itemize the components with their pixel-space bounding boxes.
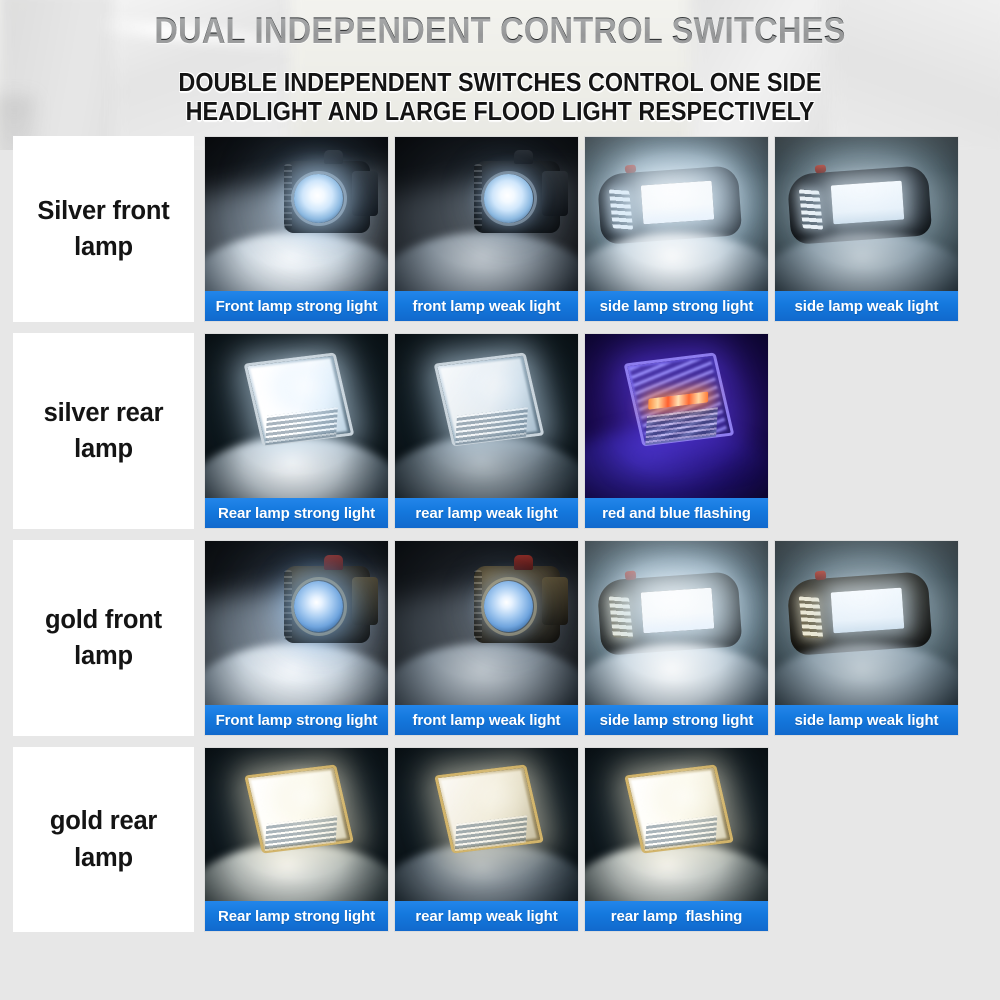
lamp-photo xyxy=(775,137,958,291)
row-label-text: Silver front lamp xyxy=(23,193,184,265)
photo-caption: Front lamp strong light xyxy=(205,291,388,321)
photo-caption: side lamp strong light xyxy=(585,291,768,321)
lamp-photo xyxy=(585,748,768,901)
photo-caption: rear lamp weak light xyxy=(395,901,578,931)
photo-caption: rear lamp flashing xyxy=(585,901,768,931)
lamp-photo-cell[interactable]: rear lamp flashing xyxy=(584,747,769,932)
photo-caption: front lamp weak light xyxy=(395,291,578,321)
lamp-photo xyxy=(585,334,768,498)
photo-caption: side lamp strong light xyxy=(585,705,768,735)
row-label-text: gold rear lamp xyxy=(23,803,184,875)
table-row: silver rear lamp Re xyxy=(13,333,979,529)
page-subtitle-line-2: HEADLIGHT AND LARGE FLOOD LIGHT RESPECTI… xyxy=(50,97,950,126)
lamp-photo-cell[interactable]: Rear lamp strong light xyxy=(204,747,389,932)
lamp-photo xyxy=(775,541,958,705)
row-cells: Rear lamp strong light r xyxy=(194,747,979,932)
lamp-photo-cell[interactable]: red and blue flashing xyxy=(584,333,769,529)
row-label-text: gold front lamp xyxy=(23,602,184,674)
photo-caption: front lamp weak light xyxy=(395,705,578,735)
row-label-text: silver rear lamp xyxy=(23,395,184,467)
lamp-photo-cell[interactable]: rear lamp weak light xyxy=(394,747,579,932)
row-label-card-silver-rear: silver rear lamp xyxy=(13,333,194,529)
lamp-photo xyxy=(205,334,388,498)
row-cells: Rear lamp strong light r xyxy=(194,333,979,529)
row-label-card-gold-rear: gold rear lamp xyxy=(13,747,194,932)
page-title: DUAL INDEPENDENT CONTROL SWITCHES xyxy=(60,6,940,56)
lamp-photo xyxy=(205,748,388,901)
photo-caption: Front lamp strong light xyxy=(205,705,388,735)
lamp-photo-cell[interactable]: Rear lamp strong light xyxy=(204,333,389,529)
row-label-card-gold-front: gold front lamp xyxy=(13,540,194,736)
lamp-photo xyxy=(395,541,578,705)
lamp-photo-cell[interactable]: side lamp strong light xyxy=(584,136,769,322)
row-cells: Front lamp strong light xyxy=(194,136,979,322)
lamp-photo-cell[interactable]: side lamp weak light xyxy=(774,136,959,322)
row-label-card-silver-front: Silver front lamp xyxy=(13,136,194,322)
lamp-photo xyxy=(585,541,768,705)
lamp-photo-cell[interactable]: Front lamp strong light xyxy=(204,136,389,322)
photo-caption: side lamp weak light xyxy=(775,705,958,735)
lamp-photo xyxy=(205,541,388,705)
lamp-photo xyxy=(205,137,388,291)
lamp-comparison-grid: Silver front lamp xyxy=(13,136,979,943)
row-cells: Front lamp strong light xyxy=(194,540,979,736)
lamp-photo-cell[interactable]: side lamp weak light xyxy=(774,540,959,736)
table-row: Silver front lamp xyxy=(13,136,979,322)
photo-caption: side lamp weak light xyxy=(775,291,958,321)
lamp-photo-cell[interactable]: rear lamp weak light xyxy=(394,333,579,529)
lamp-photo xyxy=(395,137,578,291)
infographic-page: DUAL INDEPENDENT CONTROL SWITCHES DOUBLE… xyxy=(0,0,1000,1000)
lamp-photo xyxy=(585,137,768,291)
lamp-photo-cell[interactable]: front lamp weak light xyxy=(394,540,579,736)
lamp-photo xyxy=(395,334,578,498)
photo-caption: Rear lamp strong light xyxy=(205,901,388,931)
lamp-photo-cell[interactable]: front lamp weak light xyxy=(394,136,579,322)
header-title-block: DUAL INDEPENDENT CONTROL SWITCHES DOUBLE… xyxy=(0,0,1000,126)
photo-caption: red and blue flashing xyxy=(585,498,768,528)
photo-caption: Rear lamp strong light xyxy=(205,498,388,528)
lamp-photo xyxy=(395,748,578,901)
lamp-photo-cell[interactable]: side lamp strong light xyxy=(584,540,769,736)
page-subtitle: DOUBLE INDEPENDENT SWITCHES CONTROL ONE … xyxy=(50,68,950,126)
table-row: gold rear lamp Rear xyxy=(13,747,979,932)
page-subtitle-line-1: DOUBLE INDEPENDENT SWITCHES CONTROL ONE … xyxy=(50,68,950,97)
lamp-photo-cell[interactable]: Front lamp strong light xyxy=(204,540,389,736)
table-row: gold front lamp xyxy=(13,540,979,736)
photo-caption: rear lamp weak light xyxy=(395,498,578,528)
